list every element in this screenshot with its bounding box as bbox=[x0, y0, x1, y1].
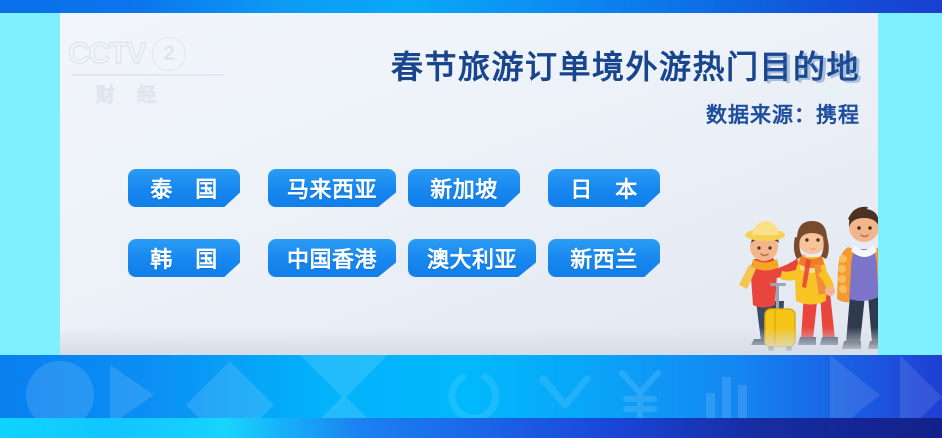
bottom-band-strip bbox=[0, 418, 942, 438]
yen-icon bbox=[622, 373, 658, 419]
left-cyan-strip bbox=[0, 13, 60, 355]
headline-block: 春节旅游订单境外游热门目的地 目的地 数据来源：携程 bbox=[330, 48, 860, 129]
destination-pill-australia[interactable]: 澳大利亚 bbox=[408, 239, 536, 277]
destination-pill-singapore[interactable]: 新加坡 bbox=[408, 169, 520, 207]
destination-slot: 韩 国 bbox=[128, 239, 268, 277]
content-panel: CCTV 2 财 经 春节旅游订单境外游热门目的地 目的地 数据来源：携程 泰 … bbox=[60, 13, 878, 355]
broadcast-screen: CCTV 2 财 经 春节旅游订单境外游热门目的地 目的地 数据来源：携程 泰 … bbox=[0, 0, 942, 438]
cctv-channel-logo: CCTV 2 财 经 bbox=[68, 37, 238, 107]
cctv-logo-sub-left: 财 bbox=[96, 80, 115, 107]
cctv-logo-divider bbox=[72, 74, 224, 76]
destination-slot: 马来西亚 bbox=[268, 169, 408, 207]
destination-pill-hong-kong-china[interactable]: 中国香港 bbox=[268, 239, 396, 277]
page-title: 春节旅游订单境外游热门目的地 bbox=[391, 48, 860, 87]
cctv-channel-number: 2 bbox=[152, 37, 186, 71]
destination-slot: 中国香港 bbox=[268, 239, 408, 277]
destination-row-1: 泰 国 马来西亚 新加坡 日 本 bbox=[128, 169, 688, 207]
bar-chart-icon bbox=[706, 377, 747, 421]
cctv-logo-text: CCTV bbox=[68, 37, 146, 71]
cctv-logo-subtitle: 财 经 bbox=[68, 80, 238, 107]
data-source-label: 数据来源：携程 bbox=[330, 99, 860, 129]
destination-slot: 日 本 bbox=[548, 169, 688, 207]
destination-pill-new-zealand[interactable]: 新西兰 bbox=[548, 239, 660, 277]
bottom-decorative-band bbox=[0, 355, 942, 438]
destination-slot: 新西兰 bbox=[548, 239, 688, 277]
destination-pill-thailand[interactable]: 泰 国 bbox=[128, 169, 240, 207]
destination-list: 泰 国 马来西亚 新加坡 日 本 韩 国 中国香港 bbox=[128, 169, 688, 309]
destination-pill-malaysia[interactable]: 马来西亚 bbox=[268, 169, 396, 207]
family-travellers-illustration bbox=[732, 189, 878, 355]
destination-slot: 泰 国 bbox=[128, 169, 268, 207]
destination-pill-south-korea[interactable]: 韩 国 bbox=[128, 239, 240, 277]
right-cyan-strip bbox=[878, 13, 942, 355]
destination-slot: 新加坡 bbox=[408, 169, 548, 207]
destination-pill-japan[interactable]: 日 本 bbox=[548, 169, 660, 207]
man-figure bbox=[837, 207, 878, 349]
cctv-logo-wordmark: CCTV 2 bbox=[68, 37, 238, 71]
destination-row-2: 韩 国 中国香港 澳大利亚 新西兰 bbox=[128, 239, 688, 277]
top-accent-bar bbox=[0, 0, 942, 13]
cctv-logo-sub-right: 经 bbox=[137, 80, 156, 107]
destination-slot: 澳大利亚 bbox=[408, 239, 548, 277]
